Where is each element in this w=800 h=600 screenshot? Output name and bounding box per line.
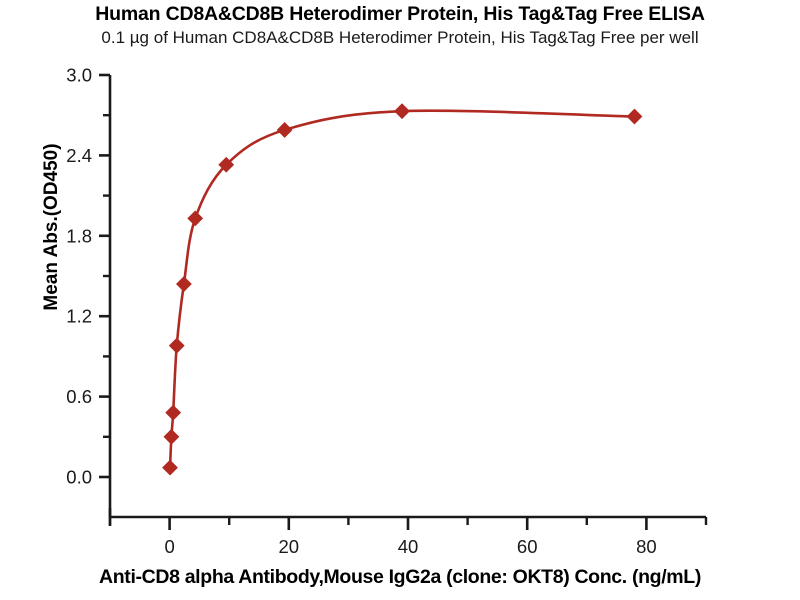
data-point-marker [188,211,202,225]
x-tick-label: 80 [636,536,657,557]
y-tick-label: 0.6 [66,386,92,407]
y-tick-label: 1.2 [66,306,92,327]
x-tick-label: 60 [517,536,538,557]
x-tick-label: 20 [279,536,300,557]
series-line [170,111,634,468]
y-tick-label: 0.0 [66,467,92,488]
data-point-marker [170,338,184,352]
y-tick-label: 3.0 [66,65,92,86]
x-axis: 020406080 [110,508,706,557]
data-point-marker [164,430,178,444]
plot-area: 0.00.61.21.82.43.0 020406080 [0,0,800,600]
x-tick-label: 40 [398,536,419,557]
data-point-marker [277,123,291,137]
y-tick-label: 1.8 [66,225,92,246]
elisa-chart-figure: Human CD8A&CD8B Heterodimer Protein, His… [0,0,800,600]
data-series [163,104,642,475]
data-point-marker [627,109,641,123]
data-point-marker [166,405,180,419]
data-point-marker [395,104,409,118]
y-axis: 0.00.61.21.82.43.0 [66,65,110,518]
data-point-marker [177,277,191,291]
data-point-marker [163,460,177,474]
x-tick-label: 0 [164,536,174,557]
y-tick-label: 2.4 [66,145,92,166]
